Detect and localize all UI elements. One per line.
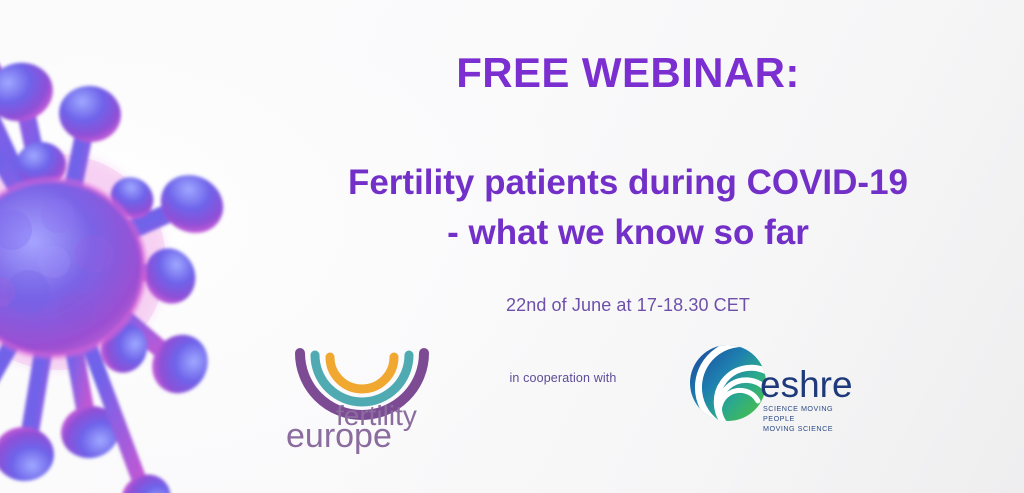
webinar-poster: FREE WEBINAR: Fertility patients during … bbox=[0, 0, 1024, 493]
event-datetime: 22nd of June at 17-18.30 CET bbox=[232, 295, 1024, 316]
poster-text-column: FREE WEBINAR: Fertility patients during … bbox=[232, 0, 1024, 493]
headline-line-1: Fertility patients during COVID-19 bbox=[348, 163, 908, 202]
page-title: Fertility patients during COVID-19 - wha… bbox=[232, 158, 1024, 257]
headline-line-2: - what we know so far bbox=[232, 208, 1024, 258]
eshre-tagline-line-2: PEOPLE bbox=[763, 414, 795, 423]
fertility-europe-word-bottom: europe bbox=[286, 417, 392, 455]
eyebrow-free-webinar: FREE WEBINAR: bbox=[232, 50, 1024, 96]
eshre-tagline-line-1: SCIENCE MOVING bbox=[763, 404, 833, 413]
cooperation-label: in cooperation with bbox=[470, 371, 656, 385]
fertility-europe-logo: fertility europe bbox=[274, 337, 464, 457]
eshre-tagline-line-3: MOVING SCIENCE bbox=[763, 424, 833, 433]
logo-strip: fertility europe in cooperation with bbox=[232, 335, 1024, 460]
eshre-logo: eshre SCIENCE MOVING PEOPLE MOVING SCIEN… bbox=[680, 341, 862, 441]
eshre-wordmark: eshre bbox=[760, 364, 853, 405]
